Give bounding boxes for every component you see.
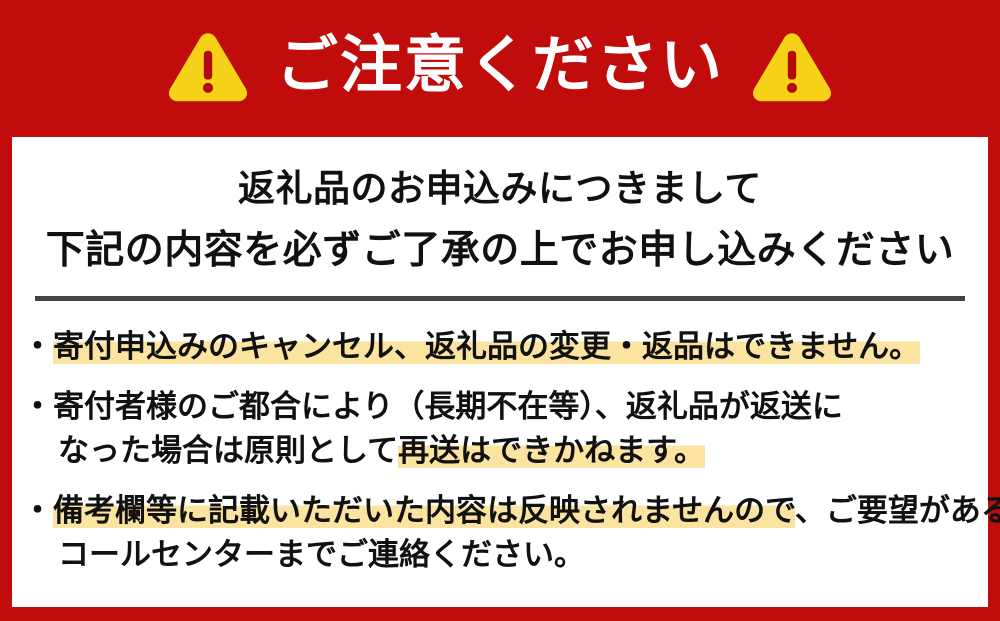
notice-bullet-line: コールセンターまでご連絡ください。 (22, 533, 988, 577)
notice-body-panel: 返礼品のお申込みにつきまして 下記の内容を必ずご了承の上でお申し込みください ・… (12, 137, 988, 607)
heading-line-1: 返礼品のお申込みにつきまして (12, 159, 988, 219)
notice-bullet-item: ・備考欄等に記載いただいた内容は反映されませんので、ご要望がある際はコールセンタ… (12, 489, 988, 577)
notice-bullet-line: ・寄付者様のご都合により（長期不在等）、返礼品が返送に (22, 385, 988, 429)
bullet-marker: ・ (22, 489, 53, 533)
notice-bullet-item: ・寄付申込みのキャンセル、返礼品の変更・返品はできません。 (12, 325, 988, 369)
notice-bullet-line: ・寄付申込みのキャンセル、返礼品の変更・返品はできません。 (22, 325, 988, 369)
notice-bullet-item: ・寄付者様のご都合により（長期不在等）、返礼品が返送になった場合は原則として再送… (12, 385, 988, 473)
heading-block: 返礼品のお申込みにつきまして 下記の内容を必ずご了承の上でお申し込みください (12, 137, 988, 282)
highlighted-text: 再送はできかねます。 (398, 433, 705, 468)
page-title: ご注意ください (276, 35, 724, 97)
highlighted-text: 寄付申込みのキャンセル、返礼品の変更・返品はできません。 (53, 329, 920, 364)
frame-bottom-band (0, 607, 1000, 621)
bullet-text: なった場合は原則として (58, 433, 398, 468)
bullet-text: 寄付者様のご都合により（長期不在等）、返礼品が返送に (53, 389, 843, 424)
notice-bullet-line: なった場合は原則として再送はできかねます。 (22, 429, 988, 473)
warning-triangle-icon (750, 28, 834, 104)
warning-triangle-icon (166, 28, 250, 104)
heading-line-2: 下記の内容を必ずご了承の上でお申し込みください (12, 219, 988, 282)
notice-card: ご注意ください 返礼品のお申込みにつきまして 下記の内容を必ずご了承の上でお申し… (0, 0, 1000, 621)
bullet-marker: ・ (22, 325, 53, 369)
bullet-text: 、ご要望がある際は (795, 493, 1000, 528)
highlighted-text: 備考欄等に記載いただいた内容は反映されませんので (53, 493, 795, 528)
notice-bullet-list: ・寄付申込みのキャンセル、返礼品の変更・返品はできません。・寄付者様のご都合によ… (12, 301, 988, 577)
bullet-text: コールセンターまでご連絡ください。 (58, 537, 585, 572)
notice-bullet-line: ・備考欄等に記載いただいた内容は反映されませんので、ご要望がある際は (22, 489, 988, 533)
notice-header: ご注意ください (0, 0, 1000, 137)
bullet-marker: ・ (22, 385, 53, 429)
